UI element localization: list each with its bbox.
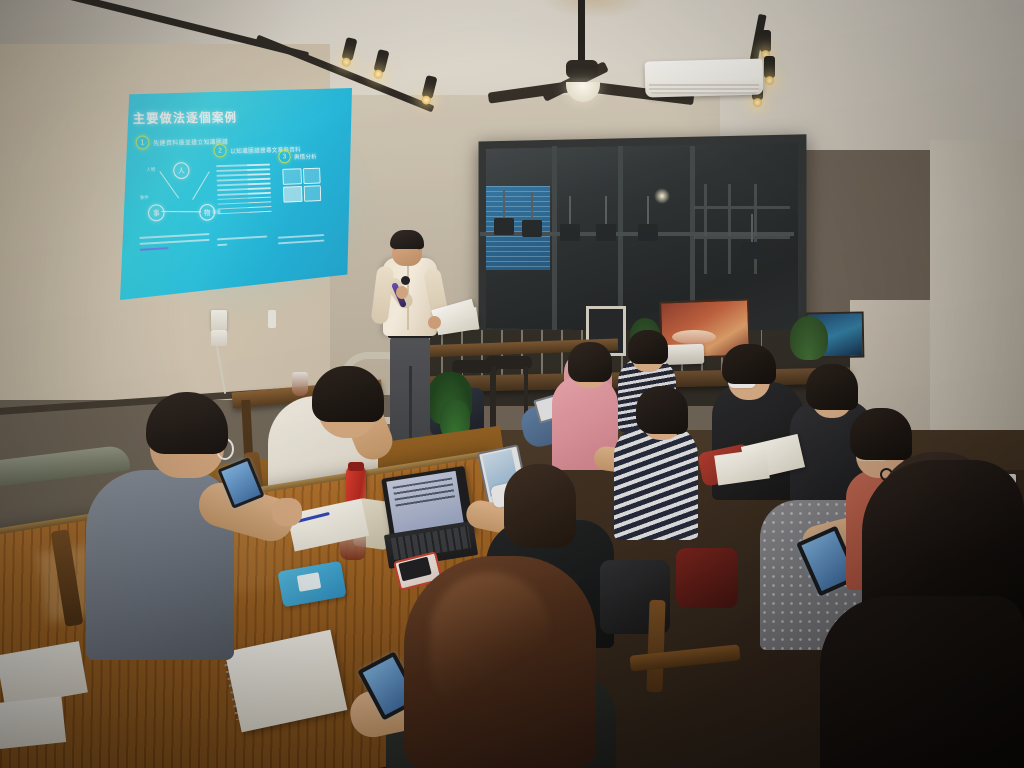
loose-paper (0, 696, 66, 749)
attendee-d-body (614, 424, 698, 540)
window-mullion (618, 146, 623, 331)
presenter-hand-right (428, 316, 441, 329)
attendee-e-hair (628, 330, 668, 364)
air-conditioner-vent (649, 84, 759, 94)
attendee-h-hair (806, 364, 858, 410)
potted-plant (790, 316, 828, 360)
photo-scene: 主要做法逐個案例 1 先建資料庫並建立知識圖譜 2 以知識圖譜搜尋文章與資料 3… (0, 0, 1024, 768)
attendee-c-hair (568, 342, 612, 382)
iron-grille (694, 184, 790, 274)
ceiling-fan-rod (578, 0, 585, 66)
eyeglasses-icon (394, 248, 420, 255)
drink-cup (292, 372, 308, 396)
spotlight-icon (760, 30, 771, 52)
window-mullion (552, 146, 557, 331)
poster-plate (672, 330, 716, 344)
attendee-j-hair (850, 408, 912, 460)
bottle-cap (348, 462, 364, 471)
presenter-hand-left (396, 286, 408, 299)
slide-sheen (120, 88, 352, 300)
attendee-hand (272, 498, 302, 526)
cafe-chair (646, 600, 665, 693)
bag (676, 548, 738, 608)
attendee-m-hair (504, 464, 576, 548)
microphone-head-icon (401, 276, 410, 285)
light-switch[interactable] (211, 330, 227, 346)
attendee-d-hair (636, 386, 688, 434)
spotlight-icon (764, 56, 775, 78)
ceiling-fan-hub (566, 60, 598, 78)
attendee-k-body (820, 596, 1024, 768)
attendee-g-hair (722, 344, 776, 384)
presenter-hair (390, 230, 424, 249)
hair-highlight (430, 572, 550, 722)
attendee-b-hair (312, 366, 384, 422)
lamp-glow (654, 188, 670, 204)
